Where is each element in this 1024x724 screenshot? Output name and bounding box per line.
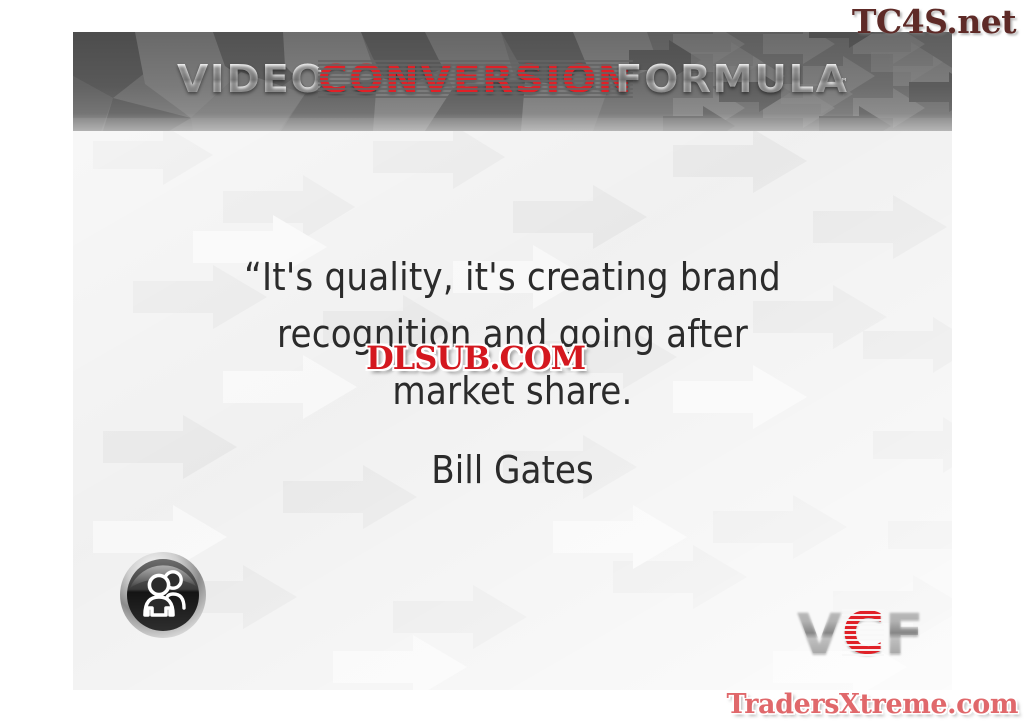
watermark-tc4s: TC4S.net [852,2,1016,41]
slide-header-band: VIDEOCONVERSIONFORMULA™ [73,32,952,131]
vcf-logo: VCF [797,604,924,662]
brand-logo: VIDEOCONVERSIONFORMULA™ [73,60,952,98]
brand-logo-word-formula: FORMULA [615,60,849,98]
watermark-dlsub: DLSUB.COM [366,339,585,377]
vcf-letter-f: F [884,604,924,662]
users-icon [118,550,208,640]
quote-attribution: Bill Gates [133,442,892,499]
vcf-letter-v: V [797,604,842,662]
users-badge [118,550,208,640]
brand-logo-word-video: VIDEO [177,60,326,98]
quote-line-1: “It's quality, it's creating brand [133,249,892,306]
brand-logo-word-conversion: CONVERSION [318,60,633,98]
watermark-tradersxtreme: TradersXtreme.com [726,689,1018,720]
slide-body: “It's quality, it's creating brand recog… [73,131,952,690]
vcf-letter-c: C [842,604,885,662]
